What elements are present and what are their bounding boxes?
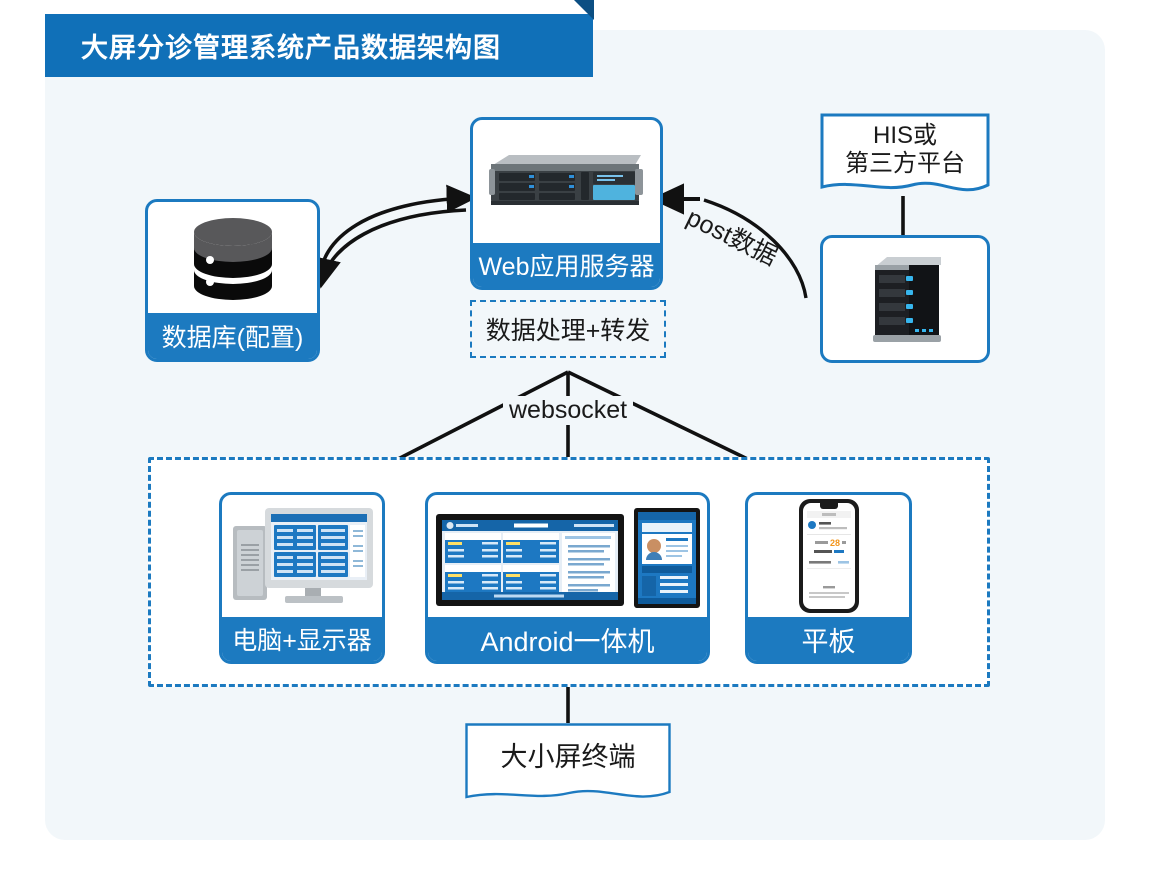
title-ribbon: 大屏分诊管理系统产品数据架构图 [45, 14, 593, 77]
his-label-block: HIS或 第三方平台 [820, 113, 990, 187]
websocket-label: websocket [503, 396, 633, 425]
ribbon-fold-corner [574, 0, 594, 20]
android-label: Android一体机 [428, 617, 707, 661]
database-icon-area [148, 202, 317, 313]
pc-label: 电脑+显示器 [222, 617, 382, 661]
web-server-label: Web应用服务器 [473, 243, 660, 287]
database-label: 数据库(配置) [148, 313, 317, 359]
desktop-computer-icon [227, 500, 377, 612]
tower-server-icon-area [823, 238, 987, 360]
node-his-platform[interactable]: HIS或 第三方平台 [820, 113, 990, 199]
node-android-kiosk[interactable]: Android一体机 [425, 492, 710, 664]
node-third-party-server[interactable] [820, 235, 990, 363]
node-web-server[interactable]: Web应用服务器 [470, 117, 663, 290]
rack-server-icon [487, 151, 647, 213]
web-server-icon-area [473, 120, 660, 243]
data-processing-label: 数据处理+转发 [486, 311, 651, 347]
diagram-canvas: 大屏分诊管理系统产品数据架构图 [0, 0, 1153, 872]
android-icon-area [428, 495, 707, 617]
his-label-line2: 第三方平台 [845, 150, 965, 178]
tablet-icon-area: 28 [748, 495, 909, 617]
page-title: 大屏分诊管理系统产品数据架构图 [45, 26, 501, 65]
database-cylinder-icon [185, 215, 281, 301]
node-tablet[interactable]: 28 平板 [745, 492, 912, 664]
node-database[interactable]: 数据库(配置) [145, 199, 320, 362]
node-pc-monitor[interactable]: 电脑+显示器 [219, 492, 385, 664]
tower-server-icon [857, 247, 953, 351]
android-kiosk-screens-icon [434, 500, 702, 612]
node-data-processing: 数据处理+转发 [470, 300, 666, 358]
his-label-line1: HIS或 [873, 122, 937, 150]
pc-icon-area [222, 495, 382, 617]
terminals-label: 大小屏终端 [465, 723, 671, 793]
svg-text:28: 28 [830, 538, 840, 548]
node-terminals[interactable]: 大小屏终端 [465, 723, 671, 805]
tablet-label: 平板 [748, 617, 909, 661]
smartphone-icon: 28 [798, 498, 860, 614]
